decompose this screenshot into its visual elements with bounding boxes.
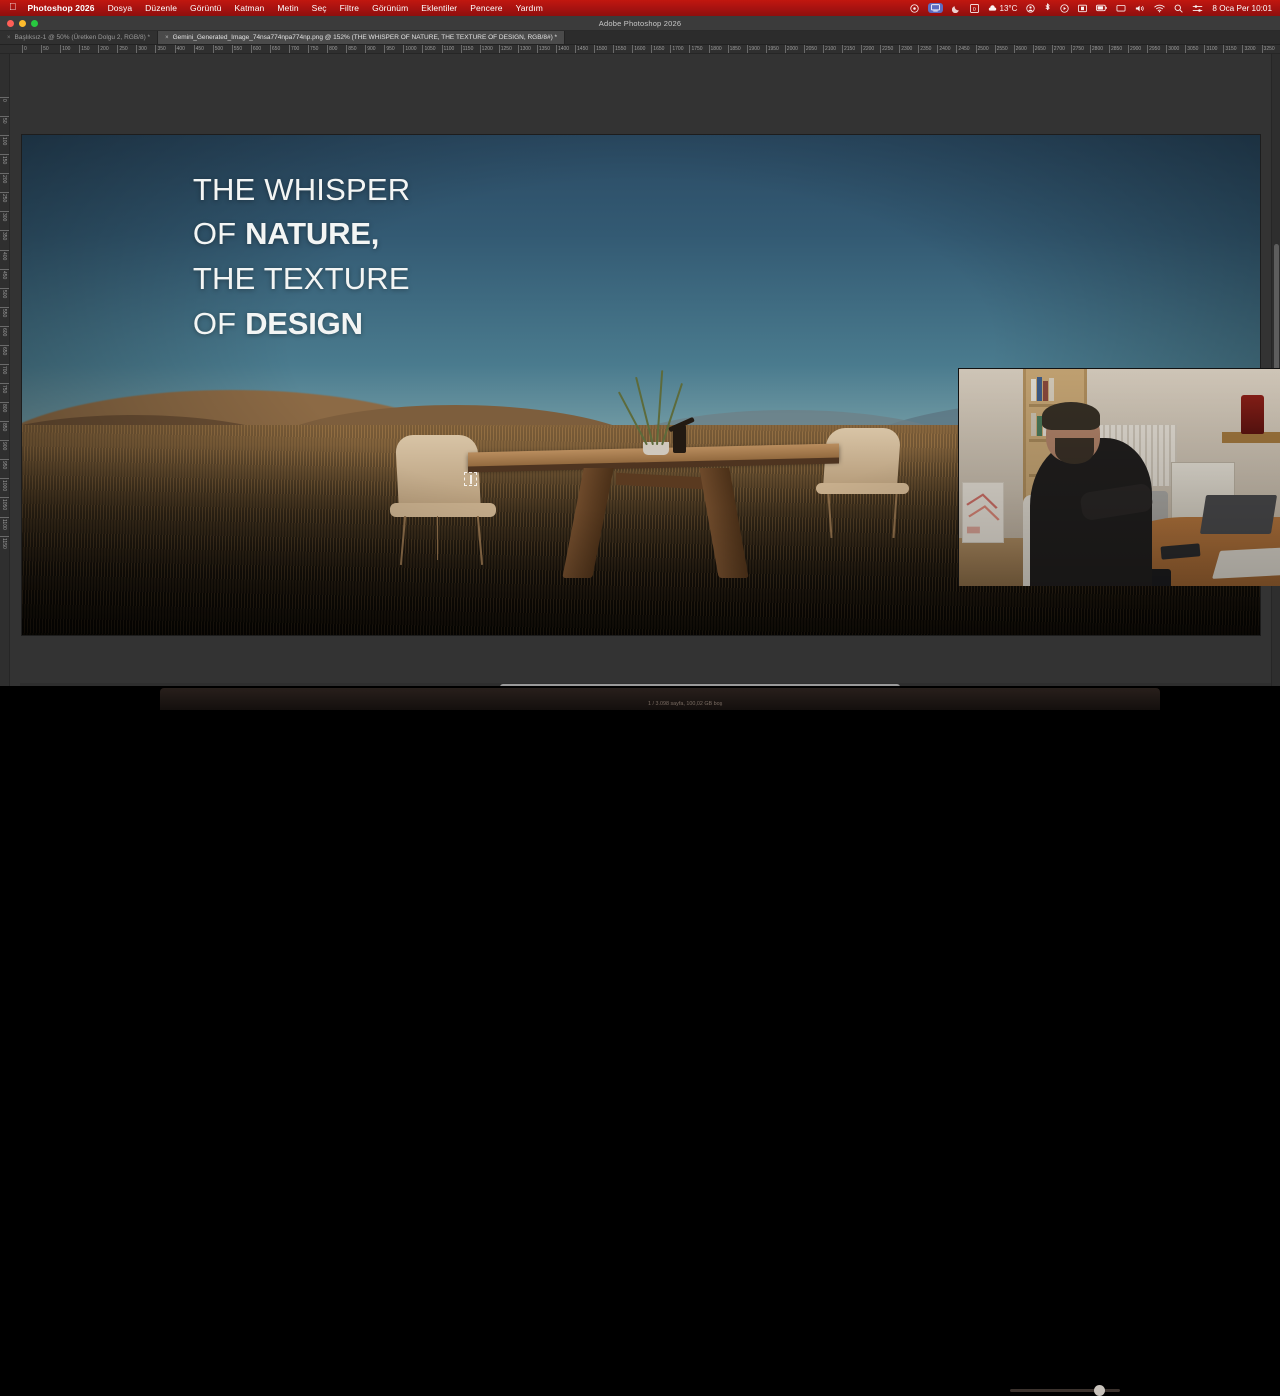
ruler-label: 950	[386, 46, 394, 52]
ruler-tick	[651, 45, 652, 54]
ruler-label: 1550	[615, 46, 626, 52]
ruler-label: 1050	[424, 46, 435, 52]
ruler-tick	[384, 45, 385, 54]
dropbox-icon[interactable]: D	[970, 4, 979, 13]
weather-icon[interactable]: 13°C	[988, 4, 1018, 13]
ruler-tick	[823, 45, 824, 54]
ruler-tick	[1204, 45, 1205, 54]
ruler-tick	[308, 45, 309, 54]
ruler-tick	[0, 440, 10, 441]
document-tab-strip: × Başlıksız-1 @ 50% (Üretken Dolgu 2, RG…	[0, 31, 1280, 45]
minimize-button[interactable]	[19, 20, 26, 27]
ruler-label: 1150	[1, 538, 7, 549]
ruler-tick	[575, 45, 576, 54]
ruler-tick	[918, 45, 919, 54]
artwork-headline: THE WHISPER OF NATURE, THE TEXTURE OF DE…	[193, 168, 411, 348]
ruler-tick	[1147, 45, 1148, 54]
ruler-label: 900	[367, 46, 375, 52]
ruler-tick	[556, 45, 557, 54]
ruler-tick	[937, 45, 938, 54]
ruler-tick	[0, 478, 10, 479]
ruler-tick	[976, 45, 977, 54]
document-tab-label: Gemini_Generated_Image_74nsa774npa774np.…	[173, 34, 557, 41]
nightshift-icon[interactable]	[952, 4, 961, 13]
ruler-tick	[1242, 45, 1243, 54]
ruler-label: 0	[24, 46, 27, 52]
ruler-label: 400	[1, 252, 7, 260]
ruler-tick	[117, 45, 118, 54]
ruler-tick	[0, 364, 10, 365]
menu-item-goruntu[interactable]: Görüntü	[190, 3, 221, 13]
ruler-label: 3150	[1225, 46, 1236, 52]
headline-line-4: OF DESIGN	[193, 302, 411, 347]
headline-line-1: THE WHISPER	[193, 168, 411, 213]
ruler-label: 1950	[768, 46, 779, 52]
ruler-label: 1850	[730, 46, 741, 52]
close-button[interactable]	[7, 20, 14, 27]
ruler-tick	[365, 45, 366, 54]
menu-item-filtre[interactable]: Filtre	[340, 3, 360, 13]
ruler-tick	[1033, 45, 1034, 54]
ruler-label: 3100	[1206, 46, 1217, 52]
ruler-tick	[0, 116, 10, 117]
ruler-label: 950	[1, 461, 7, 469]
ruler-label: 50	[43, 46, 49, 52]
wifi-icon[interactable]	[1154, 4, 1165, 13]
ruler-tick	[98, 45, 99, 54]
ruler-tick	[155, 45, 156, 54]
ruler-tick	[861, 45, 862, 54]
ruler-tick	[728, 45, 729, 54]
volume-slider[interactable]	[1010, 1389, 1120, 1392]
headline-line-2-light: OF	[193, 216, 245, 251]
ruler-label: 2900	[1130, 46, 1141, 52]
ruler-label: 2450	[958, 46, 969, 52]
ruler-tick	[766, 45, 767, 54]
ruler-tick	[537, 45, 538, 54]
ruler-label: 1100	[444, 46, 455, 52]
ruler-tick	[670, 45, 671, 54]
menu-item-app-name[interactable]: Photoshop 2026	[28, 3, 95, 13]
document-tab-untitled[interactable]: × Başlıksız-1 @ 50% (Üretken Dolgu 2, RG…	[0, 31, 158, 44]
wall-poster	[962, 482, 1004, 543]
ruler-tick	[1128, 45, 1129, 54]
laptop	[1200, 495, 1277, 534]
ruler-tick	[442, 45, 443, 54]
ruler-label: 3000	[1168, 46, 1179, 52]
ruler-label: 850	[348, 46, 356, 52]
ruler-label: 1800	[711, 46, 722, 52]
webcam-overlay[interactable]	[958, 368, 1280, 586]
close-icon[interactable]: ×	[165, 35, 169, 41]
ruler-tick	[0, 421, 10, 422]
ruler-label: 2200	[863, 46, 874, 52]
ruler-tick	[461, 45, 462, 54]
ruler-label: 650	[272, 46, 280, 52]
ruler-tick	[136, 45, 137, 54]
apple-icon[interactable]: 	[9, 3, 17, 13]
ruler-tick	[1166, 45, 1167, 54]
ruler-label: 1500	[596, 46, 607, 52]
ruler-label: 1450	[577, 46, 588, 52]
ruler-tick	[1052, 45, 1053, 54]
ruler-label: 3200	[1244, 46, 1255, 52]
ruler-label: 1700	[672, 46, 683, 52]
scratch-disk-status: 1 / 3.098 sayfa, 100,02 GB boş	[648, 701, 722, 707]
ruler-tick	[0, 173, 10, 174]
user-account-icon[interactable]	[1026, 4, 1035, 13]
ruler-label: 1250	[501, 46, 512, 52]
ruler-label: 1400	[558, 46, 569, 52]
headline-line-4-bold: DESIGN	[245, 306, 363, 341]
ruler-label: 600	[1, 328, 7, 336]
ruler-label: 200	[100, 46, 108, 52]
ruler-label: 1300	[520, 46, 531, 52]
brush-cursor	[464, 472, 477, 486]
ruler-tick	[0, 497, 10, 498]
ruler-label: 1050	[1, 499, 7, 510]
menu-item-pencere[interactable]: Pencere	[470, 3, 502, 13]
ruler-label: 300	[1, 213, 7, 221]
ruler-tick	[632, 45, 633, 54]
traffic-lights	[7, 20, 38, 27]
screen-icon[interactable]	[1116, 4, 1126, 13]
ruler-tick	[213, 45, 214, 54]
ruler-tick	[1109, 45, 1110, 54]
ruler-label: 100	[62, 46, 70, 52]
ruler-label: 2400	[939, 46, 950, 52]
ruler-label: 450	[1, 271, 7, 279]
ruler-label: 850	[1, 423, 7, 431]
ruler-label: 2100	[825, 46, 836, 52]
ruler-label: 600	[253, 46, 261, 52]
menu-item-eklentiler[interactable]: Eklentiler	[421, 3, 457, 13]
ruler-label: 1650	[653, 46, 664, 52]
vertical-ruler[interactable]: 0501001502002503003504004505005506006507…	[0, 54, 10, 700]
ruler-tick	[1014, 45, 1015, 54]
person-hair	[1042, 402, 1100, 430]
ruler-label: 1350	[539, 46, 550, 52]
ruler-tick	[0, 211, 10, 212]
ruler-label: 50	[1, 118, 7, 124]
ruler-tick	[1262, 45, 1263, 54]
ruler-label: 2750	[1073, 46, 1084, 52]
red-kettle	[1241, 395, 1263, 434]
ruler-tick	[327, 45, 328, 54]
ruler-tick	[785, 45, 786, 54]
ruler-label: 1750	[691, 46, 702, 52]
ruler-label: 700	[291, 46, 299, 52]
ruler-tick	[270, 45, 271, 54]
ruler-tick	[480, 45, 481, 54]
ruler-tick	[880, 45, 881, 54]
bluetooth-icon[interactable]	[1044, 3, 1051, 13]
keyboard	[1212, 547, 1280, 579]
poster-artwork-icon	[963, 483, 1003, 542]
ruler-label: 1100	[1, 519, 7, 530]
book-row	[1031, 376, 1054, 402]
ruler-tick	[0, 154, 10, 155]
ruler-label: 2650	[1035, 46, 1046, 52]
ruler-tick	[594, 45, 595, 54]
ruler-label: 2050	[806, 46, 817, 52]
ruler-label: 250	[1, 194, 7, 202]
menu-item-metin[interactable]: Metin	[277, 3, 298, 13]
ruler-tick	[0, 135, 10, 136]
ruler-label: 750	[310, 46, 318, 52]
macos-menu-bar:  Photoshop 2026 Dosya Düzenle Görüntü K…	[0, 0, 1280, 16]
ruler-label: 2800	[1092, 46, 1103, 52]
ruler-label: 1900	[749, 46, 760, 52]
ruler-tick	[0, 269, 10, 270]
ruler-label: 1000	[1, 480, 7, 491]
ruler-label: 100	[1, 137, 7, 145]
ruler-label: 800	[1, 404, 7, 412]
video-player-bar[interactable]	[0, 686, 1280, 720]
weather-temperature: 13°C	[1000, 4, 1018, 13]
ruler-tick	[0, 326, 10, 327]
ruler-tick	[0, 230, 10, 231]
screen-record-icon[interactable]	[910, 4, 919, 13]
battery-icon[interactable]	[1096, 4, 1107, 12]
window-title-bar: Adobe Photoshop 2026	[0, 16, 1280, 31]
ruler-label: 250	[119, 46, 127, 52]
volume-slider-knob[interactable]	[1094, 1385, 1105, 1396]
document-tab-label: Başlıksız-1 @ 50% (Üretken Dolgu 2, RGB/…	[15, 34, 151, 41]
ruler-label: 1150	[463, 46, 474, 52]
ruler-tick	[403, 45, 404, 54]
ruler-tick	[499, 45, 500, 54]
ruler-label: 150	[81, 46, 89, 52]
photoshop-window: Adobe Photoshop 2026 × Başlıksız-1 @ 50%…	[0, 16, 1280, 700]
headline-line-3: THE TEXTURE	[193, 257, 411, 302]
ruler-label: 150	[1, 156, 7, 164]
ruler-label: 500	[1, 290, 7, 298]
ruler-label: 2350	[920, 46, 931, 52]
headline-line-4-light: OF	[193, 306, 245, 341]
media-play-icon[interactable]	[1060, 4, 1069, 13]
ruler-tick	[0, 307, 10, 308]
headline-line-2: OF NATURE,	[193, 212, 411, 257]
ruler-tick	[0, 250, 10, 251]
ruler-tick	[0, 536, 10, 537]
ruler-tick	[0, 402, 10, 403]
ruler-label: 1600	[634, 46, 645, 52]
ruler-tick	[251, 45, 252, 54]
ruler-label: 2950	[1149, 46, 1160, 52]
ruler-tick	[194, 45, 195, 54]
svg-text:D: D	[972, 6, 976, 12]
ruler-label: 0	[1, 99, 7, 102]
volume-icon[interactable]	[1135, 4, 1145, 13]
ruler-label: 350	[157, 46, 165, 52]
ruler-label: 2550	[997, 46, 1008, 52]
ruler-label: 2300	[901, 46, 912, 52]
ruler-label: 1000	[405, 46, 416, 52]
ruler-label: 2850	[1111, 46, 1122, 52]
ruler-tick	[0, 288, 10, 289]
ruler-label: 900	[1, 442, 7, 450]
ruler-tick	[709, 45, 710, 54]
ruler-tick	[232, 45, 233, 54]
ruler-tick	[60, 45, 61, 54]
menu-item-sec[interactable]: Seç	[312, 3, 327, 13]
zoom-button[interactable]	[31, 20, 38, 27]
ruler-tick	[747, 45, 748, 54]
ruler-tick	[0, 345, 10, 346]
ruler-tick	[1090, 45, 1091, 54]
screen-mirroring-icon[interactable]	[928, 3, 943, 13]
menu-item-yardim[interactable]: Yardım	[516, 3, 543, 13]
ruler-tick	[0, 97, 10, 98]
ruler-label: 550	[234, 46, 242, 52]
ruler-label: 800	[329, 46, 337, 52]
ruler-label: 3250	[1264, 46, 1275, 52]
ruler-tick	[613, 45, 614, 54]
ruler-label: 2700	[1054, 46, 1065, 52]
ruler-tick	[1223, 45, 1224, 54]
ruler-tick	[518, 45, 519, 54]
ruler-label: 450	[196, 46, 204, 52]
ruler-tick	[956, 45, 957, 54]
ruler-label: 1200	[482, 46, 493, 52]
ruler-tick	[346, 45, 347, 54]
ruler-label: 2600	[1016, 46, 1027, 52]
ruler-tick	[1185, 45, 1186, 54]
menu-item-dosya[interactable]: Dosya	[108, 3, 133, 13]
ruler-label: 350	[1, 232, 7, 240]
ruler-label: 2150	[844, 46, 855, 52]
ruler-label: 400	[177, 46, 185, 52]
ruler-label: 2500	[978, 46, 989, 52]
ruler-tick	[79, 45, 80, 54]
menu-item-duzenle[interactable]: Düzenle	[145, 3, 177, 13]
ruler-tick	[689, 45, 690, 54]
ruler-label: 2000	[787, 46, 798, 52]
ruler-tick	[0, 517, 10, 518]
spotlight-search-icon[interactable]	[1174, 4, 1183, 13]
control-center-icon[interactable]	[1192, 4, 1203, 13]
ruler-label: 3050	[1187, 46, 1198, 52]
ruler-label: 2250	[882, 46, 893, 52]
menu-item-katman[interactable]: Katman	[234, 3, 264, 13]
horizontal-ruler[interactable]: 0501001502002503003504004505005506006507…	[0, 45, 1280, 54]
ruler-tick	[842, 45, 843, 54]
close-icon[interactable]: ×	[7, 35, 11, 41]
ruler-tick	[804, 45, 805, 54]
ruler-label: 500	[215, 46, 223, 52]
ruler-tick	[289, 45, 290, 54]
ruler-label: 750	[1, 385, 7, 393]
ruler-tick	[899, 45, 900, 54]
ruler-label: 650	[1, 347, 7, 355]
ruler-tick	[41, 45, 42, 54]
ruler-label: 700	[1, 366, 7, 374]
ruler-label: 550	[1, 309, 7, 317]
display-icon[interactable]	[1078, 4, 1087, 13]
menu-bar-clock[interactable]: 8 Oca Per 10:01	[1212, 4, 1272, 13]
ruler-tick	[175, 45, 176, 54]
ruler-tick	[1071, 45, 1072, 54]
ruler-tick	[0, 192, 10, 193]
ruler-tick	[995, 45, 996, 54]
ruler-tick	[22, 45, 23, 54]
ruler-tick	[0, 383, 10, 384]
window-title: Adobe Photoshop 2026	[599, 19, 681, 28]
ruler-tick	[0, 459, 10, 460]
menu-item-gorunum[interactable]: Görünüm	[372, 3, 408, 13]
ruler-label: 300	[138, 46, 146, 52]
document-tab-gemini-image[interactable]: × Gemini_Generated_Image_74nsa774npa774n…	[158, 31, 565, 44]
ruler-label: 200	[1, 175, 7, 183]
headline-line-2-bold: NATURE,	[245, 216, 379, 251]
ruler-tick	[422, 45, 423, 54]
